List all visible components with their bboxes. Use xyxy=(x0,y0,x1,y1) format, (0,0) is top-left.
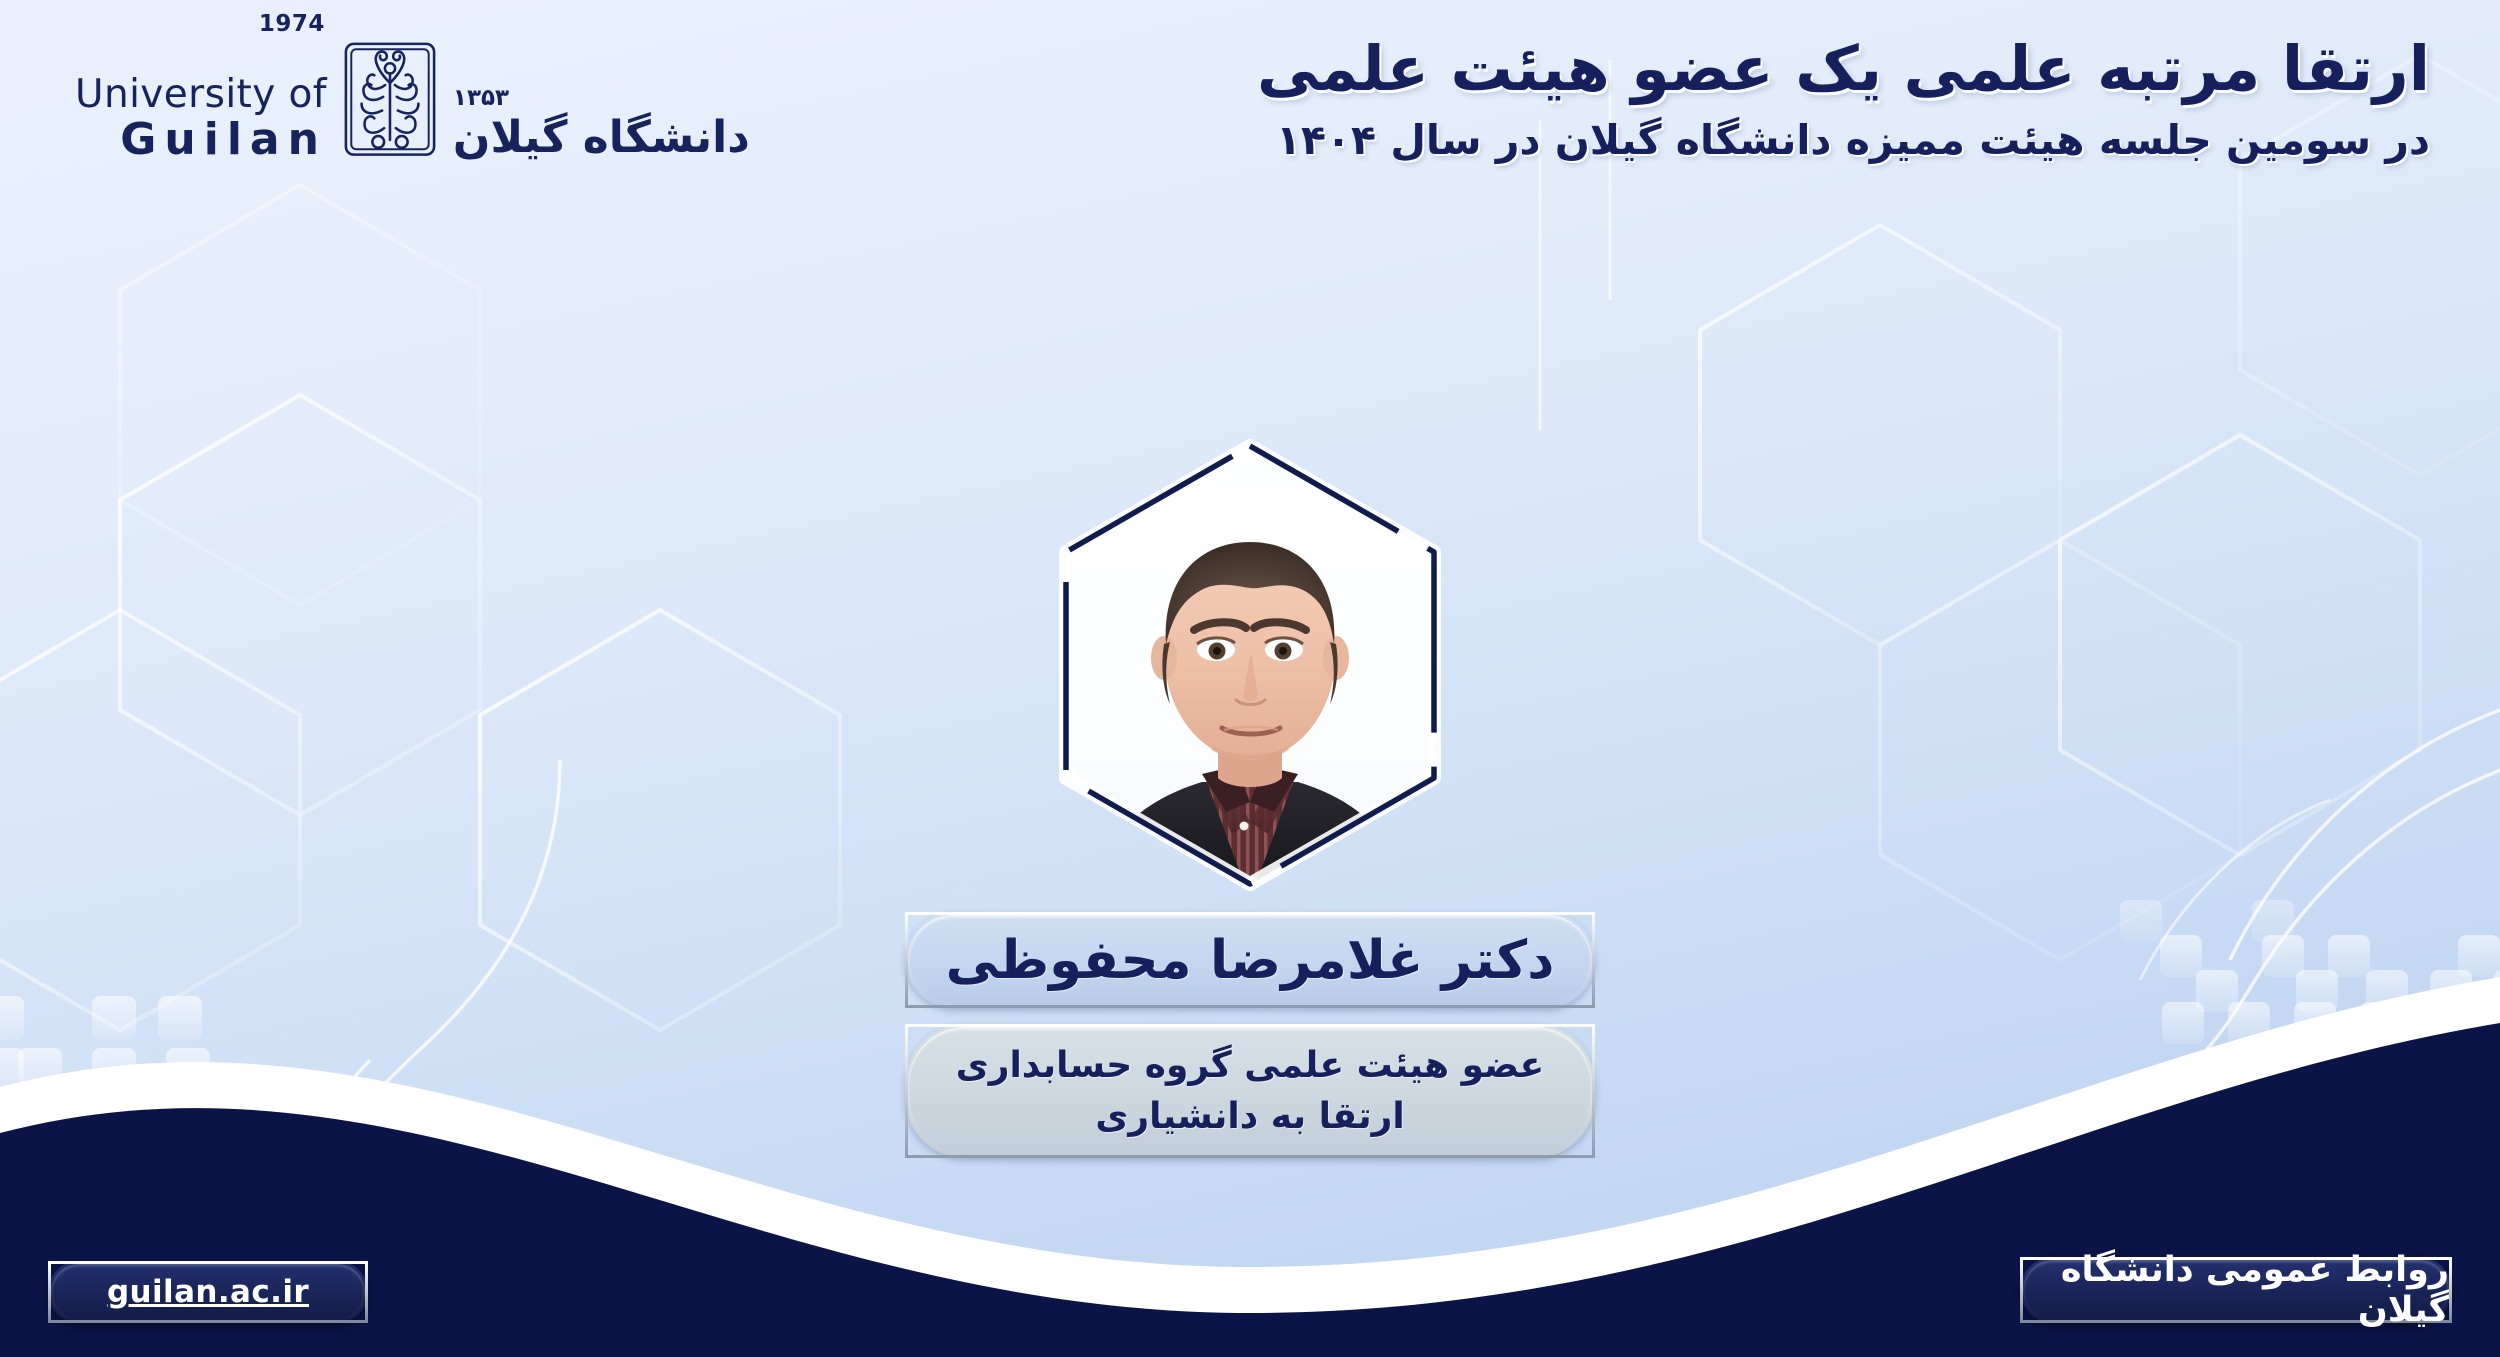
page-subtitle: در سومین جلسه هیئت ممیزه دانشگاه گیلان د… xyxy=(1257,114,2430,167)
person-name-badge: دکتر غلامرضا محفوظی xyxy=(905,912,1595,1008)
logo-line-university-of: University of xyxy=(75,75,327,114)
portrait-photo xyxy=(1030,430,1470,900)
guilan-emblem-icon xyxy=(341,38,439,160)
website-link[interactable]: guilan.ac.ir xyxy=(48,1261,368,1323)
poster-canvas: 1974 University of Guilan xyxy=(0,0,2500,1357)
poster-header: 1974 University of Guilan xyxy=(0,0,2500,210)
person-role-line2: ارتقا به دانشیاری xyxy=(1095,1091,1404,1142)
university-logo: 1974 University of Guilan xyxy=(75,38,750,164)
title-block: ارتقا مرتبه علمی یک عضو هیئت علمی در سوم… xyxy=(1257,30,2430,167)
logo-founding-year-fa: ۱۳۵۳ xyxy=(453,87,750,110)
logo-university-name-fa: دانشگاه گیلان xyxy=(453,116,750,160)
logo-persian-text: ۱۳۵۳ دانشگاه گیلان xyxy=(453,87,750,164)
portrait-frame xyxy=(1030,430,1470,900)
logo-founding-year-en: 1974 xyxy=(259,13,325,36)
person-info: دکتر غلامرضا محفوظی عضو هیئت علمی گروه ح… xyxy=(890,912,1610,1158)
public-relations-badge: روابط عمومی دانشگاه گیلان xyxy=(2020,1257,2452,1323)
page-title: ارتقا مرتبه علمی یک عضو هیئت علمی xyxy=(1257,30,2430,108)
logo-line-guilan: Guilan xyxy=(75,118,327,162)
person-role-badge: عضو هیئت علمی گروه حسابداری ارتقا به دان… xyxy=(905,1024,1595,1158)
person-role-line1: عضو هیئت علمی گروه حسابداری xyxy=(956,1040,1545,1091)
logo-english-text: 1974 University of Guilan xyxy=(75,43,327,164)
